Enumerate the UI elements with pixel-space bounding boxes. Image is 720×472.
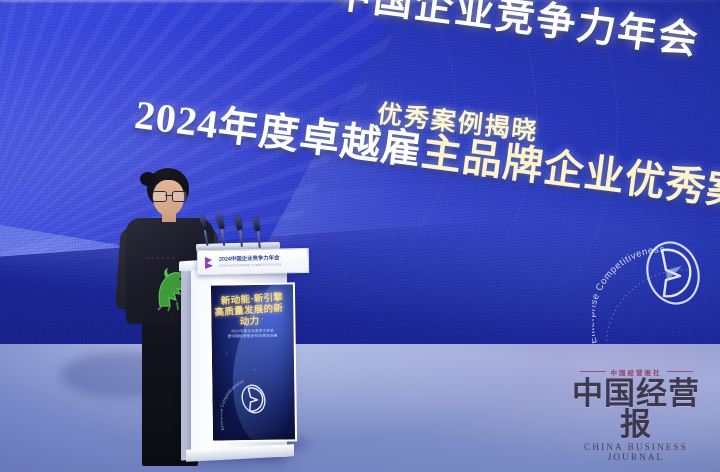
podium-nameplate: 2024中国企业竞争力年会 CHINA ENTERPRISE COMPETITI… bbox=[197, 248, 309, 275]
poster-meta-line-2: 暨中国经营报创刊38周年庆典 bbox=[217, 334, 289, 340]
nameplate-text-block: 2024中国企业竞争力年会 CHINA ENTERPRISE COMPETITI… bbox=[219, 256, 282, 268]
poster-meta: 2024中国企业竞争力年会 暨中国经营报创刊38周年庆典 bbox=[217, 329, 289, 341]
podium-poster: 新动能·新引擎 高质量发展的新动力 2024中国企业竞争力年会 暨中国经营报创刊… bbox=[209, 282, 297, 442]
watermark-english-text: CHINA BUSINESS JOURNAL bbox=[566, 442, 706, 462]
watermark-main-text: 中国经营报 bbox=[566, 378, 706, 441]
enterprise-competitiveness-logo bbox=[636, 236, 710, 310]
nameplate-logo-icon bbox=[201, 254, 216, 270]
poster-line-2: 高质量发展的新动力 bbox=[212, 304, 287, 331]
speaker-hair-bun bbox=[140, 172, 156, 186]
stage-floor-edge bbox=[0, 0, 720, 2]
watermark-rule-right bbox=[667, 371, 693, 372]
poster-logo-mark bbox=[236, 381, 270, 417]
poster-calligraphy: 新动能·新引擎 高质量发展的新动力 bbox=[215, 294, 289, 328]
conference-photo: Enterprise Competitiveness 中国企业竞争力年会 优秀案… bbox=[0, 0, 720, 472]
glasses-icon bbox=[152, 191, 185, 200]
nameplate-subtitle: CHINA ENTERPRISE COMPETITIVENESS bbox=[219, 262, 281, 267]
watermark-rule-left bbox=[580, 371, 606, 372]
sweater-print-text: ~ ~ ~ ~ ~ ~ bbox=[144, 250, 202, 260]
watermark: 中国经营报社 中国经营报 CHINA BUSINESS JOURNAL bbox=[566, 367, 706, 462]
